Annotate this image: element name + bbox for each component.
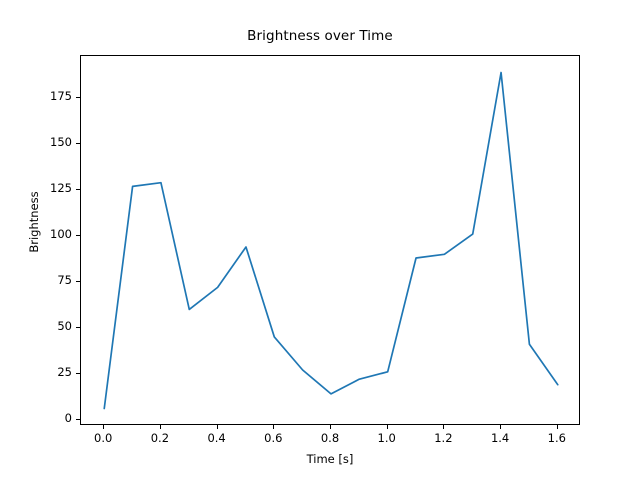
x-tick-label: 1.0: [357, 432, 417, 445]
x-tick-label: 0.2: [130, 432, 190, 445]
x-tick-label: 0.0: [73, 432, 133, 445]
x-tick-label: 0.6: [243, 432, 303, 445]
y-tick-label: 150: [30, 137, 72, 149]
y-axis-label: Brightness: [27, 162, 41, 282]
x-tick-label: 1.4: [470, 432, 530, 445]
y-tick-label: 100: [30, 229, 72, 241]
plot-area: [80, 55, 580, 425]
y-tick-label: 175: [30, 91, 72, 103]
y-tick-label: 25: [30, 367, 72, 379]
y-tick-label: 0: [30, 413, 72, 425]
brightness-line-series: [81, 56, 581, 426]
chart-title: Brightness over Time: [0, 28, 640, 44]
x-tick-label: 0.4: [187, 432, 247, 445]
y-tick-label: 125: [30, 183, 72, 195]
x-tick-label: 1.6: [527, 432, 587, 445]
y-tick-label: 50: [30, 321, 72, 333]
x-axis-label: Time [s]: [80, 452, 580, 466]
x-tick-label: 1.2: [413, 432, 473, 445]
x-tick-label: 0.8: [300, 432, 360, 445]
y-tick-label: 75: [30, 275, 72, 287]
chart-figure: Brightness over Time Brightness Time [s]…: [0, 0, 640, 480]
series-polyline: [104, 73, 558, 409]
